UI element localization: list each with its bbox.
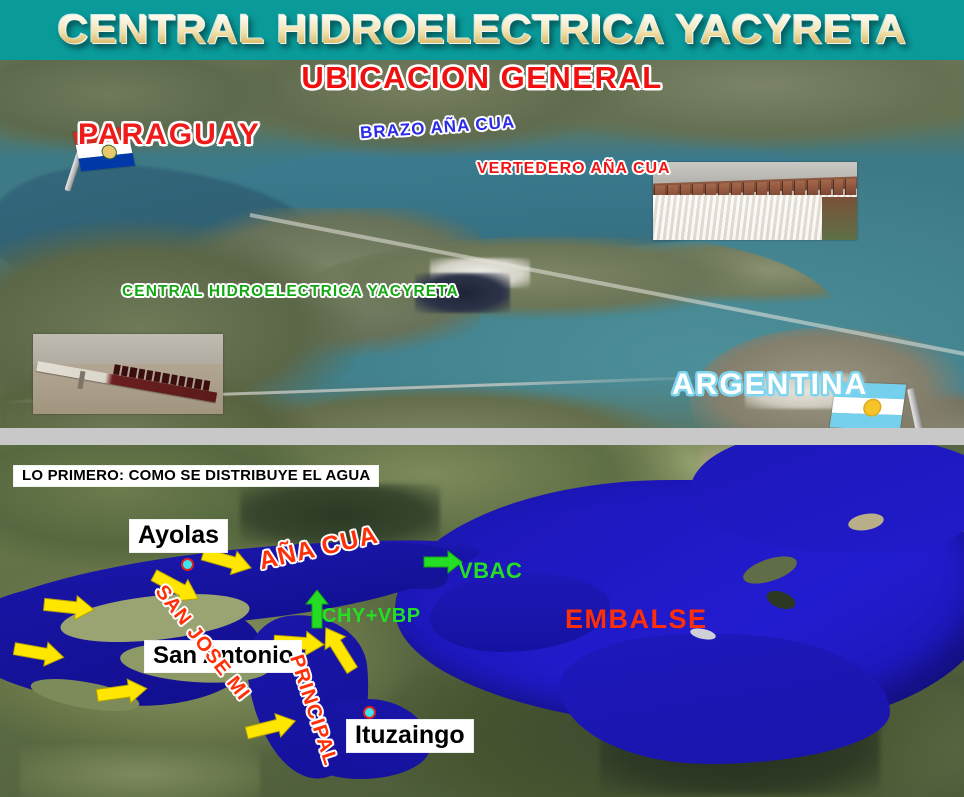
- turbine-unit: [162, 373, 170, 384]
- dark-terrain-patch: [415, 273, 510, 313]
- slide-root: CENTRAL HIDROELECTRICA YACYRETA: [0, 0, 964, 797]
- photo-upstream-water: [33, 334, 223, 366]
- turbine-unit: [121, 366, 129, 377]
- title-band: CENTRAL HIDROELECTRICA YACYRETA: [0, 0, 964, 60]
- flow-arrow-yellow: [41, 591, 97, 623]
- lower-water-distribution-map: LO PRIMERO: COMO SE DISTRIBUYE EL AGUA A…: [0, 444, 964, 797]
- flagpole: [907, 388, 926, 430]
- land-north: [0, 58, 964, 158]
- turbine-unit: [194, 379, 202, 390]
- panel-divider: [0, 428, 964, 445]
- turbine-unit: [178, 376, 186, 387]
- page-title: CENTRAL HIDROELECTRICA YACYRETA: [0, 3, 964, 55]
- paraguay-flag-cloth: [72, 126, 137, 173]
- spillway-photo-inset: [653, 162, 857, 240]
- turbine-unit: [137, 369, 145, 380]
- spillway-gate: [845, 179, 856, 197]
- paraguay-flag-icon: [48, 126, 130, 192]
- label-chy-vbp: CHY+VBP: [322, 605, 421, 628]
- turbine-unit: [202, 380, 210, 391]
- lower-panel-caption: LO PRIMERO: COMO SE DISTRIBUYE EL AGUA: [14, 466, 378, 486]
- argentina-flag-icon: [830, 380, 926, 430]
- argentina-flag-cloth: [828, 381, 907, 430]
- turbine-unit: [170, 375, 178, 386]
- right-bank: [822, 197, 857, 240]
- turbine-unit: [186, 378, 194, 389]
- city-marker-ayolas: [181, 558, 194, 571]
- terrain-patch-southwest: [20, 744, 260, 797]
- powerhouse-photo-inset: [33, 334, 223, 414]
- city-marker-ituzaingo: [363, 706, 376, 719]
- turbine-unit: [153, 372, 161, 383]
- turbine-unit: [145, 370, 153, 381]
- upper-satellite-map: UBICACION GENERAL PARAGUAY ARGENTINA BRA…: [0, 58, 964, 430]
- city-label-ituzaingo: Ituzaingo: [347, 720, 473, 752]
- label-embalse: EMBALSE: [565, 604, 708, 635]
- turbine-unit: [113, 365, 121, 376]
- label-vbac: VBAC: [458, 558, 522, 584]
- city-label-ayolas: Ayolas: [130, 520, 227, 552]
- turbine-unit: [129, 367, 137, 378]
